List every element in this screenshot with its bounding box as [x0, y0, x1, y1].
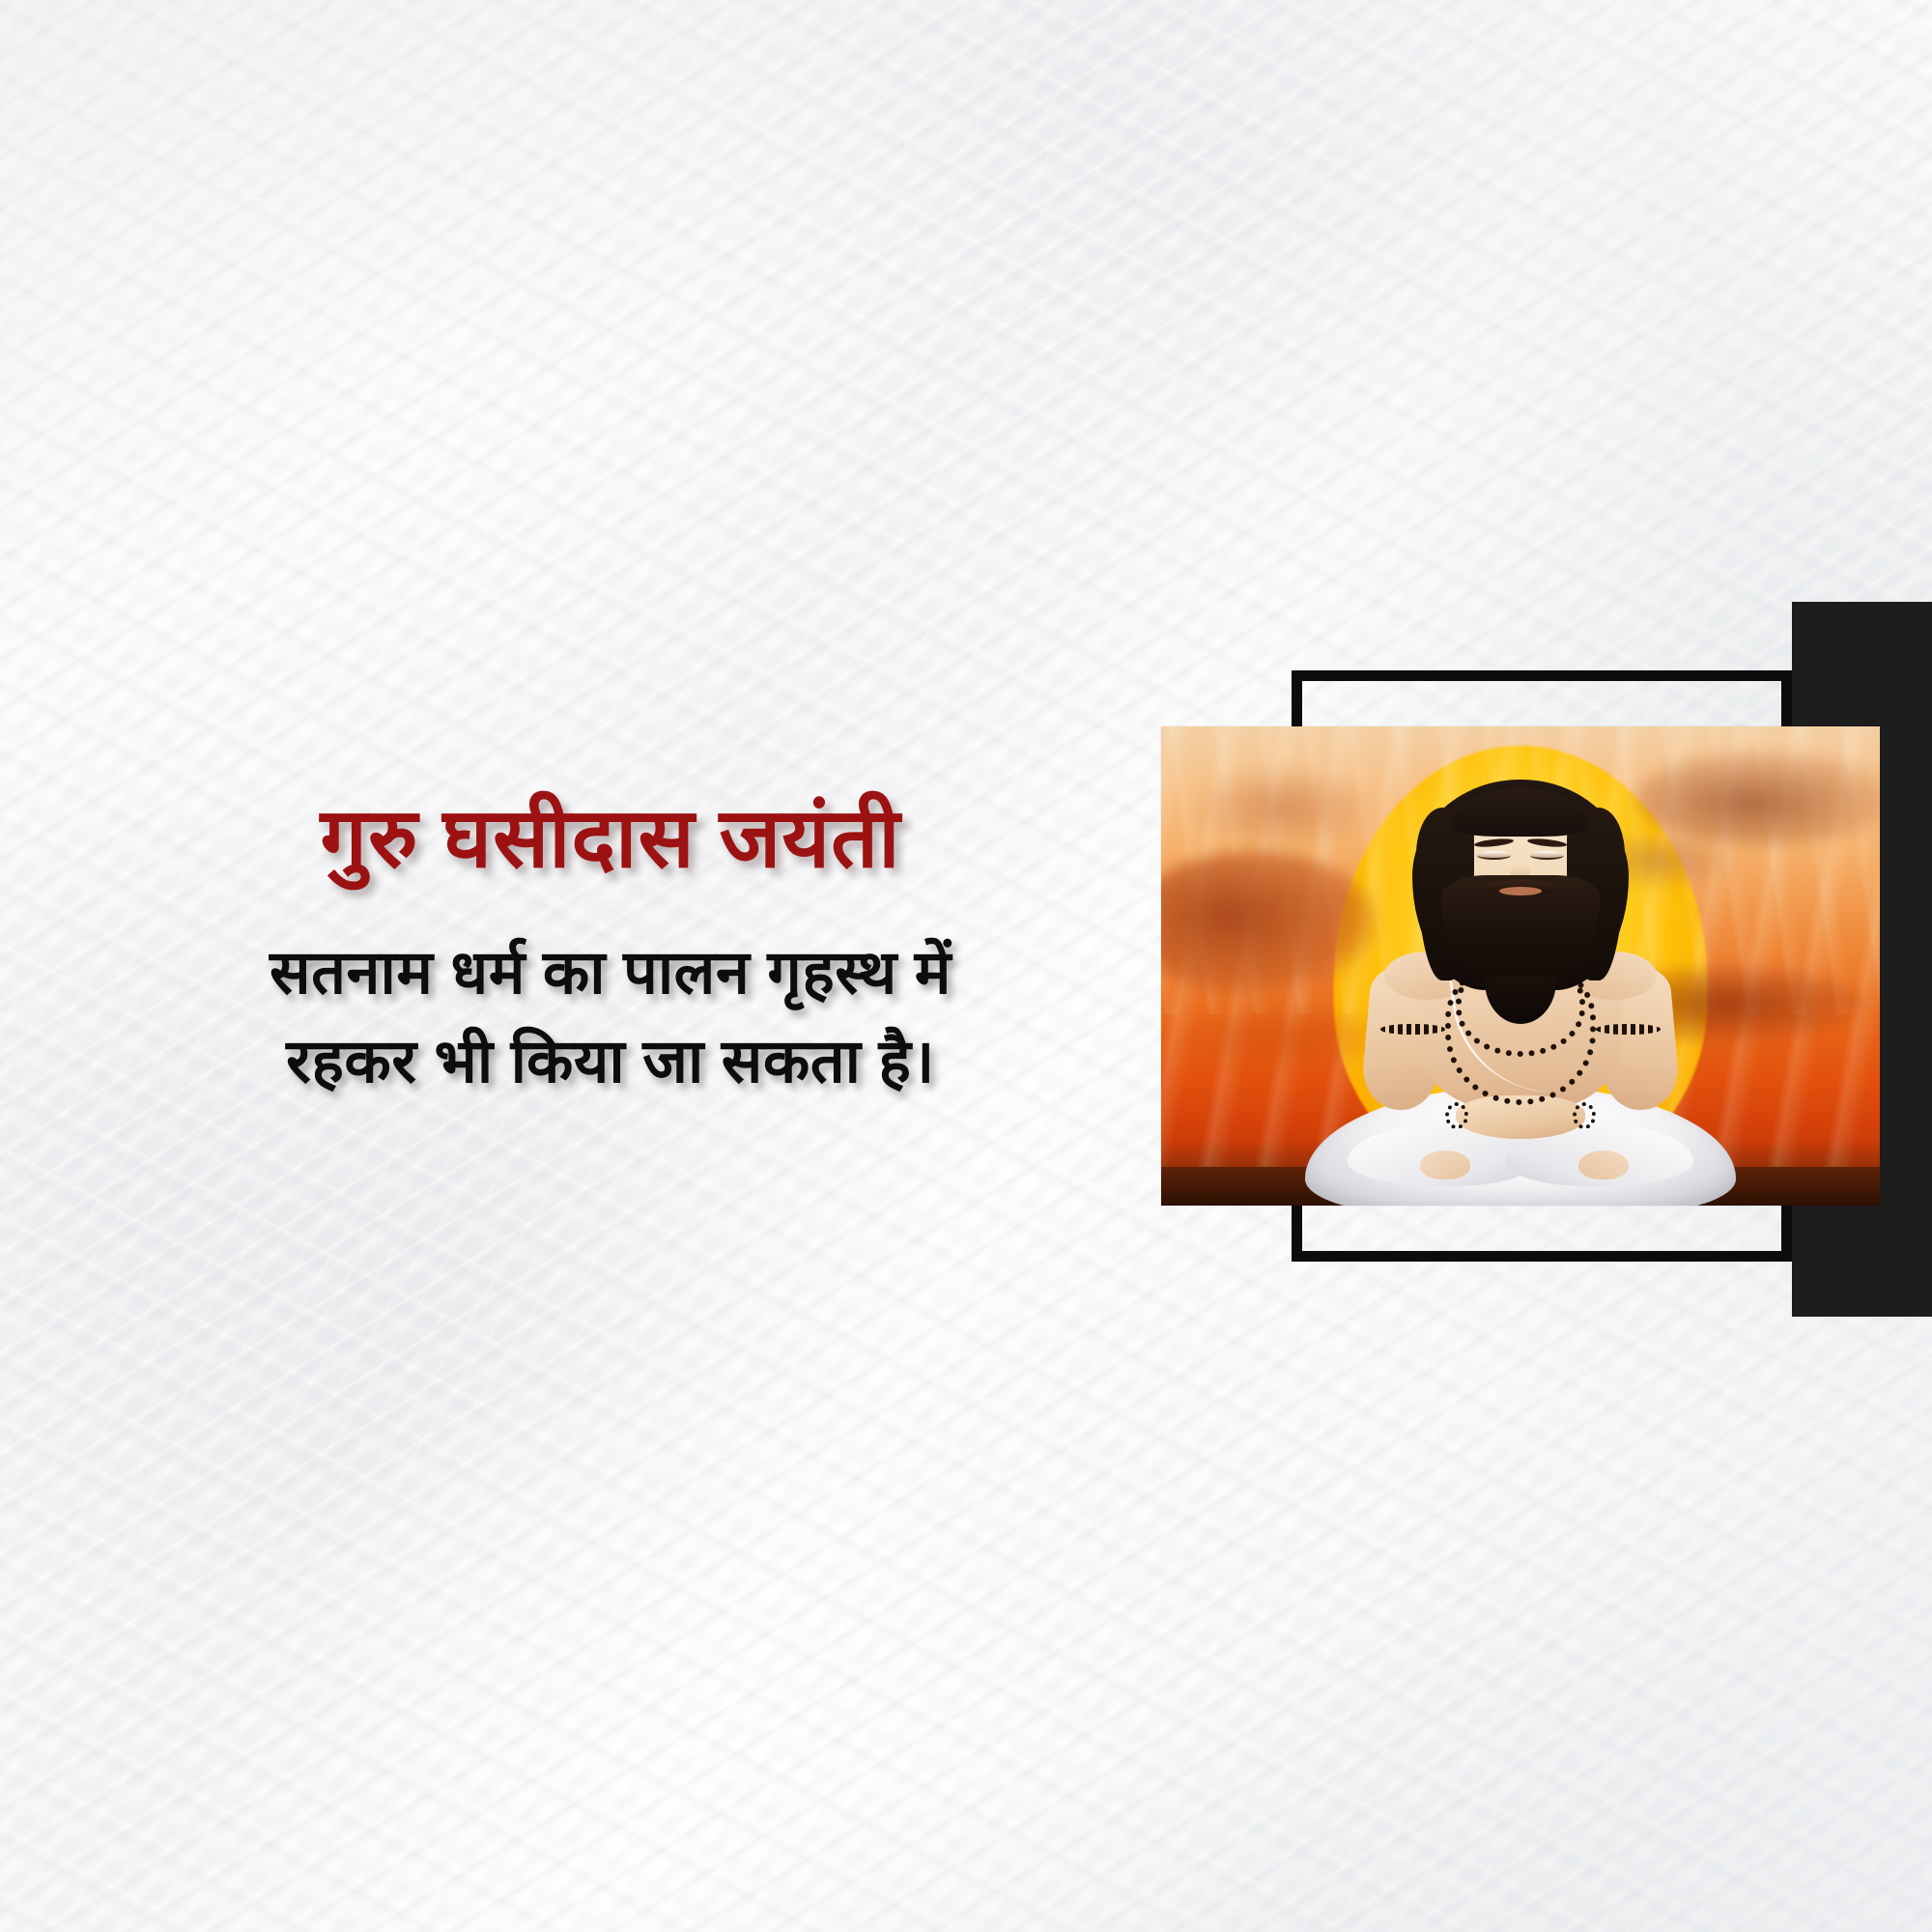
poster-canvas: गुरु घसीदास जयंती सतनाम धर्म का पालन गृह… [0, 0, 1932, 1932]
subheading-line-2: रहकर भी किया जा सकता है। [128, 1018, 1094, 1107]
guru-ghasidas-photo [1161, 726, 1880, 1206]
page-title: गुरु घसीदास जयंती [128, 792, 1094, 885]
poster-text-block: गुरु घसीदास जयंती सतनाम धर्म का पालन गृह… [128, 792, 1094, 1107]
lips [1499, 887, 1543, 895]
wrist-bead-right [1573, 1102, 1596, 1128]
meditating-figure [1161, 726, 1880, 1206]
subheading-line-1: सतनाम धर्म का पालन गृहस्थ में [128, 929, 1094, 1018]
image-composition [1111, 570, 1932, 1343]
foot-left [1420, 1151, 1470, 1179]
foot-right [1578, 1151, 1629, 1179]
wrist-bead-left [1445, 1102, 1468, 1128]
poster-subheading: सतनाम धर्म का पालन गृहस्थ में रहकर भी कि… [128, 929, 1094, 1107]
